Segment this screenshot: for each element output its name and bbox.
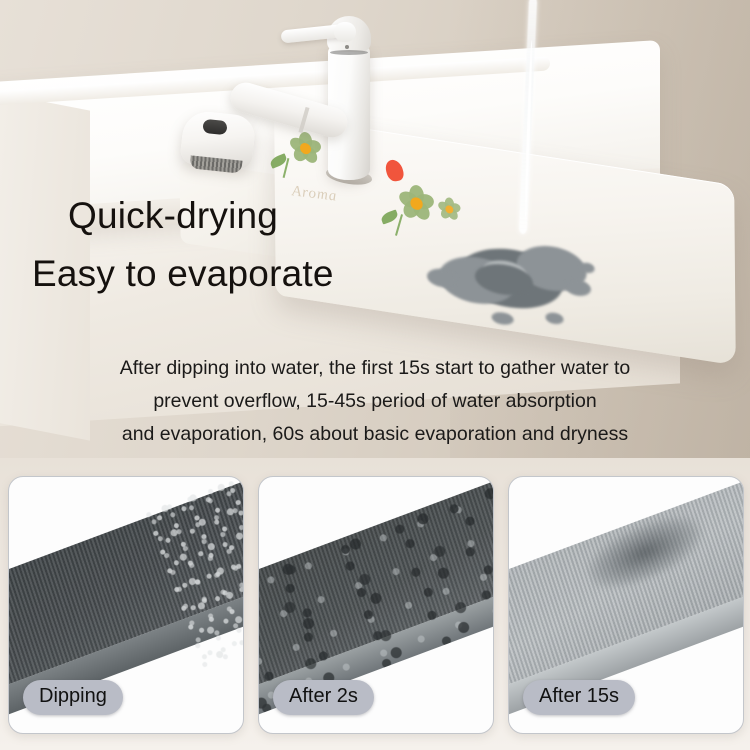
faucet-indicator-dot <box>345 45 349 49</box>
water-splash-patch <box>424 221 606 347</box>
flower-center <box>445 205 453 214</box>
panel-label-badge: Dipping <box>23 680 123 715</box>
headline-secondary: Easy to evaporate <box>32 253 334 295</box>
panel-label-badge: After 2s <box>273 680 374 715</box>
paragraph-line: and evaporation, 60s about basic evapora… <box>0 418 750 451</box>
faucet-ring <box>330 50 368 55</box>
panel-label-badge: After 15s <box>523 680 635 715</box>
faucet-handle-joint[interactable] <box>334 22 356 42</box>
comparison-panel-after-2s[interactable]: After 2s <box>258 476 494 734</box>
comparison-panel-dipping[interactable]: Dipping <box>8 476 244 734</box>
paragraph-line: prevent overflow, 15-45s period of water… <box>0 385 750 418</box>
headline-primary: Quick-drying <box>68 195 278 237</box>
product-infographic: Aroma Quick-drying Easy <box>0 0 750 750</box>
flower-icon <box>288 129 322 168</box>
faucet-spray-button[interactable] <box>202 119 227 135</box>
paragraph-line: After dipping into water, the first 15s … <box>0 352 750 385</box>
description-paragraph: After dipping into water, the first 15s … <box>0 352 750 451</box>
comparison-strip: Dipping After 2s After 15s <box>0 458 750 750</box>
flower-icon <box>397 181 435 224</box>
comparison-panel-after-15s[interactable]: After 15s <box>508 476 744 734</box>
flower-icon <box>437 195 461 223</box>
hero-scene: Aroma Quick-drying Easy <box>0 0 750 470</box>
